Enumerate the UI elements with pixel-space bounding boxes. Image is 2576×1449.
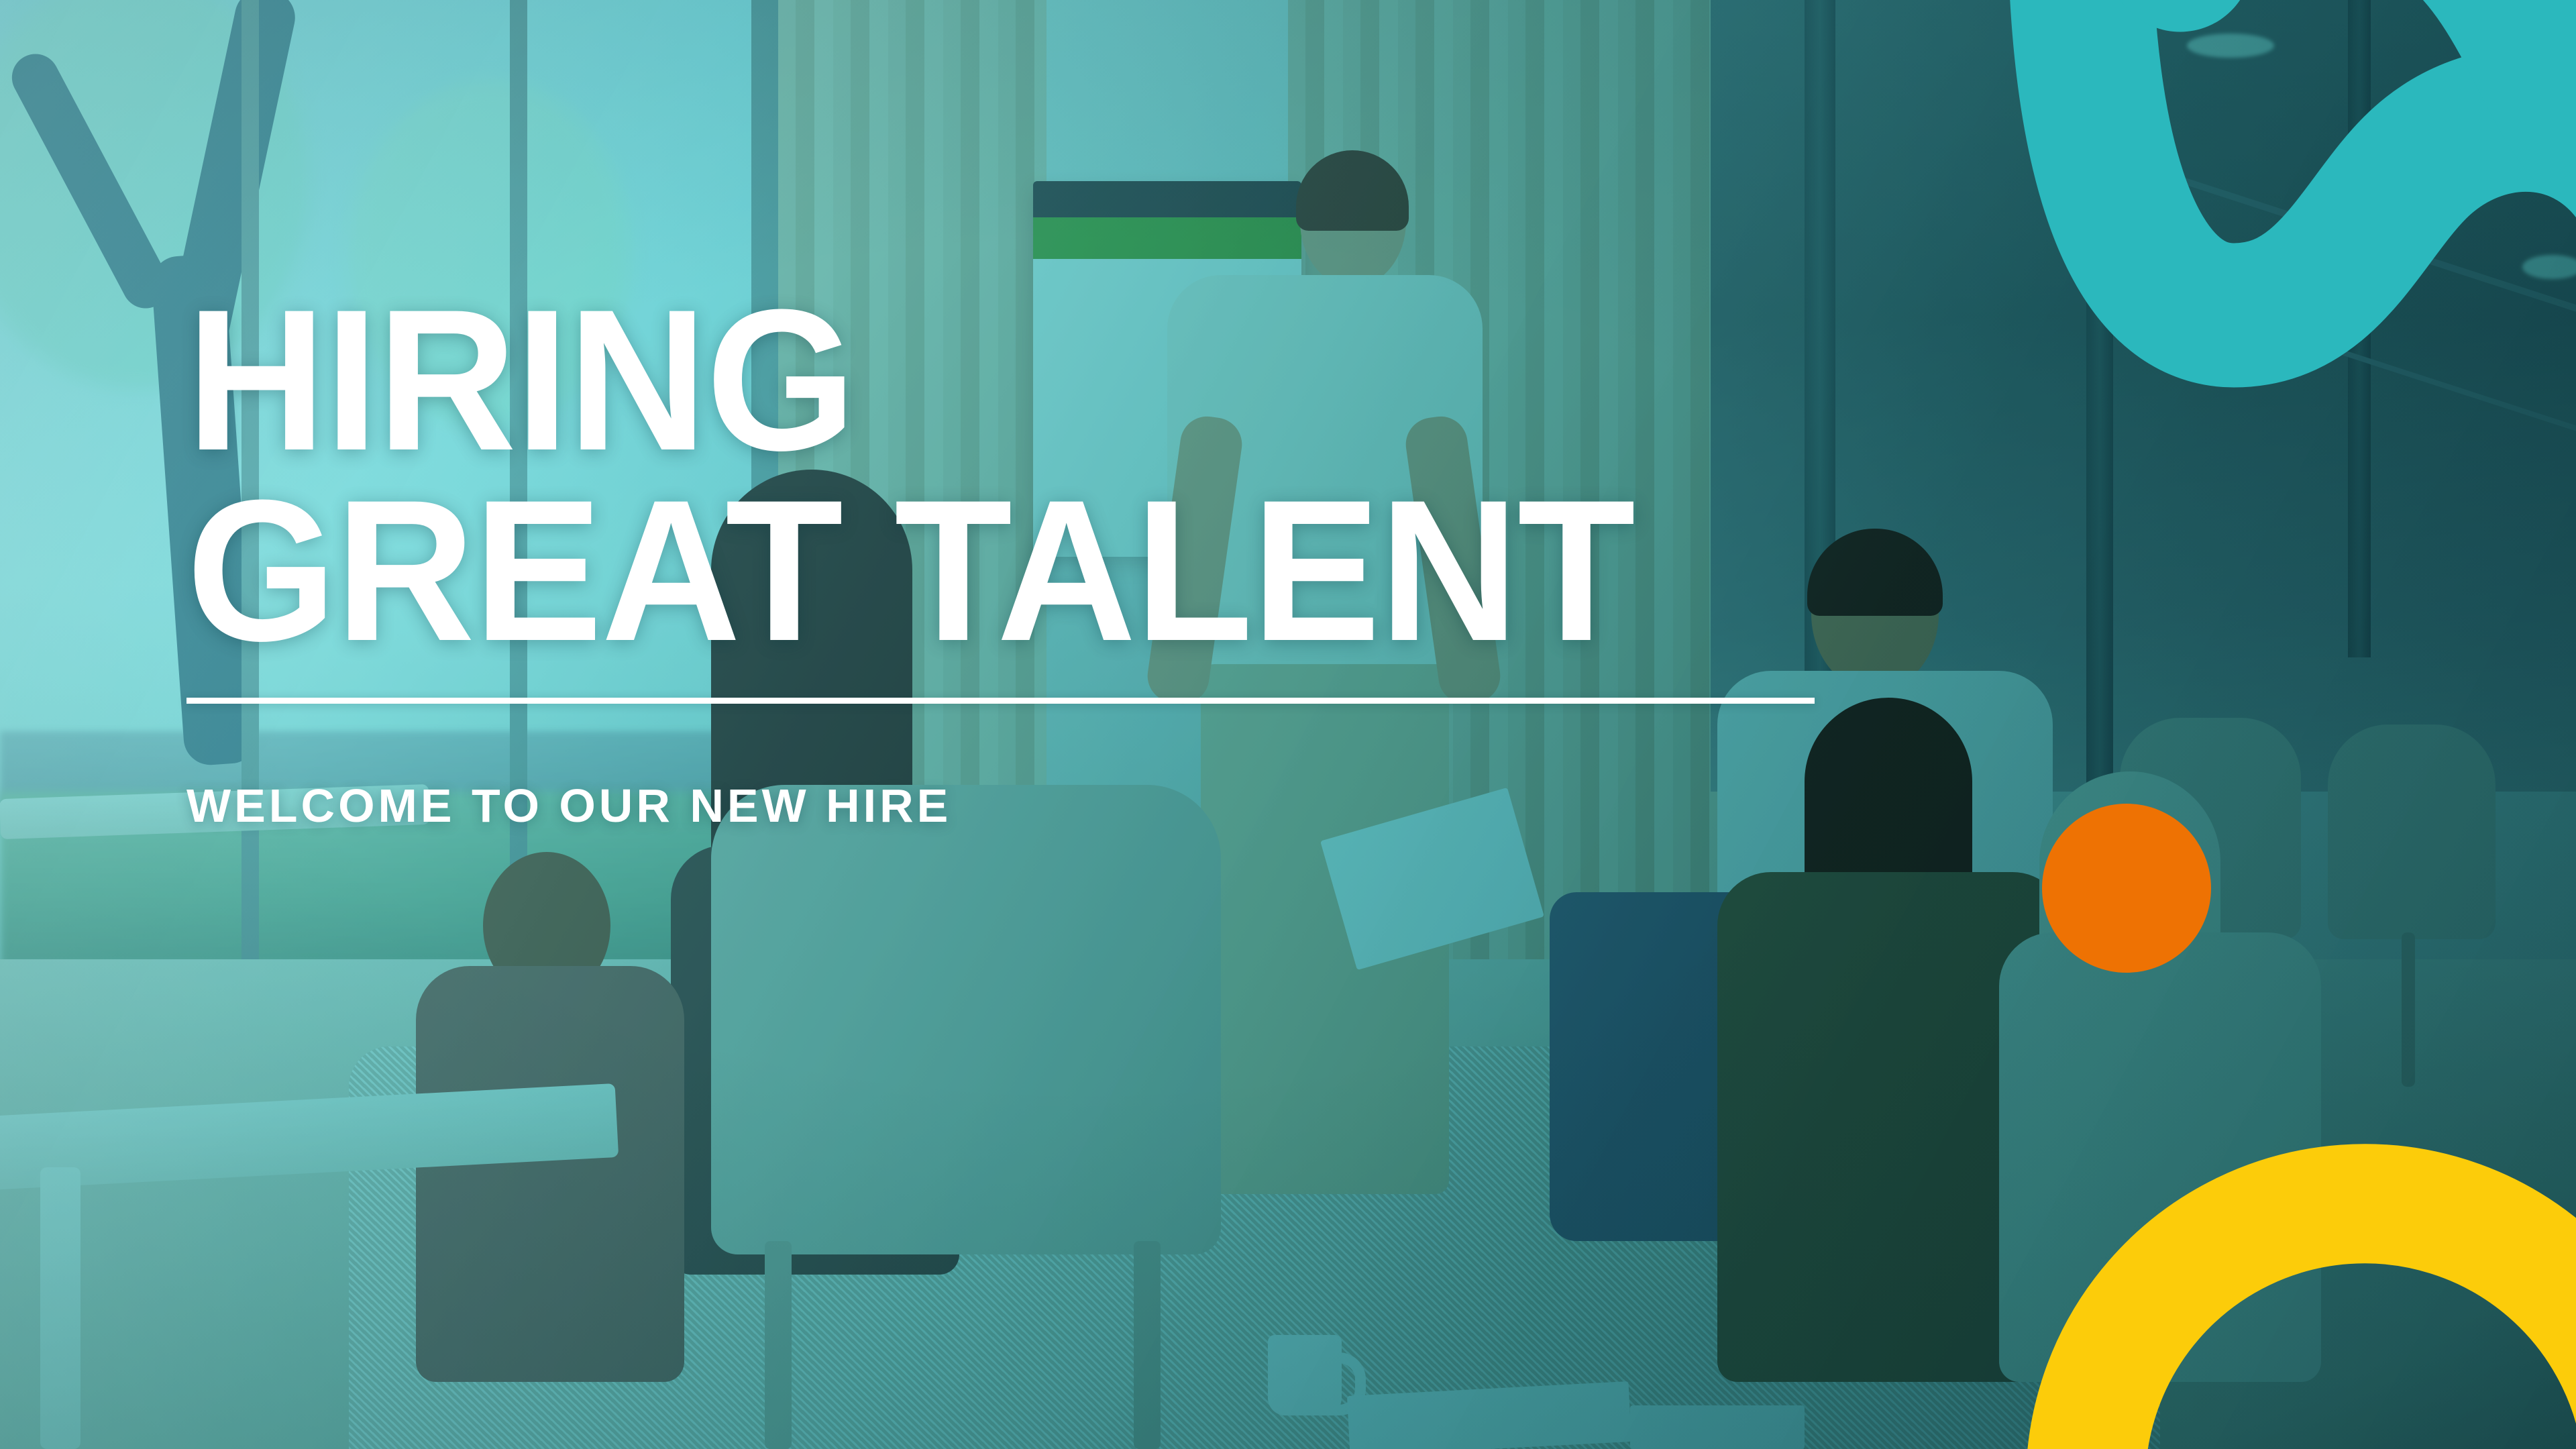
page-title: HIRING GREAT TALENT [186, 295, 1931, 655]
title-line-1: HIRING [186, 295, 1861, 464]
dot-orange [2042, 804, 2211, 973]
subtitle: WELCOME TO OUR NEW HIRE [186, 782, 1931, 829]
hiring-poster: HIRING GREAT TALENT WELCOME TO OUR NEW H… [0, 0, 2576, 1449]
title-line-2: GREAT TALENT [186, 486, 1861, 655]
horizontal-rule [186, 698, 1815, 704]
headline-block: HIRING GREAT TALENT WELCOME TO OUR NEW H… [186, 295, 1931, 829]
